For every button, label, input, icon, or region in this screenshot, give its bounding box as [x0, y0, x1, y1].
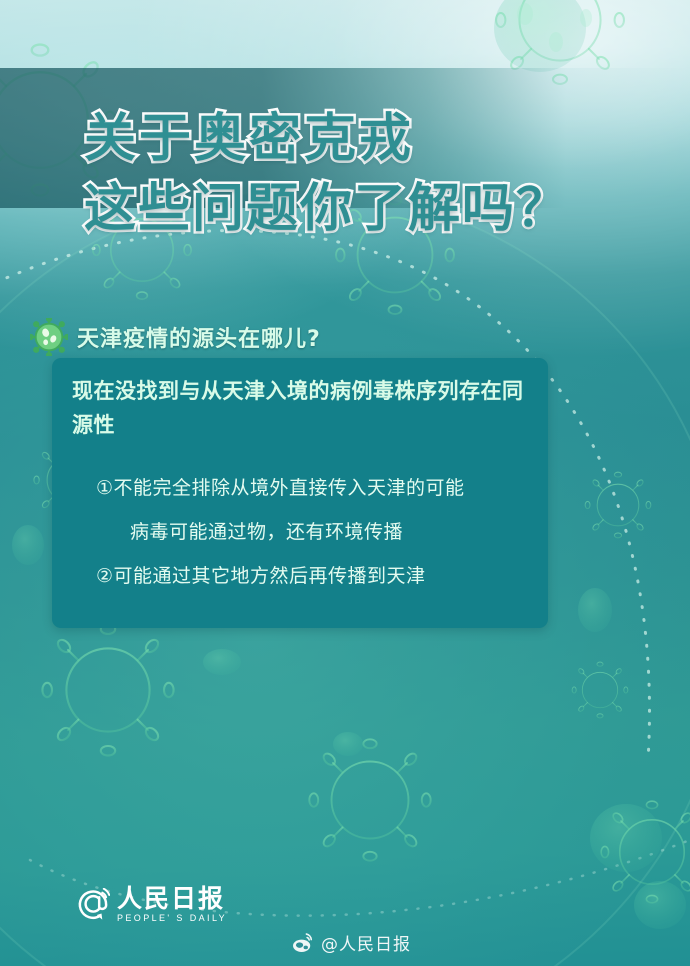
- answer-list: ①不能完全排除从境外直接传入天津的可能 病毒可能通过物，还有环境传播 ②可能通过…: [96, 466, 536, 598]
- list-item: 病毒可能通过物，还有环境传播: [96, 510, 536, 554]
- peoples-daily-logo: 人民日报 PEOPLE' S DAILY: [76, 886, 227, 923]
- title-line-2: 这些问题你了解吗？: [84, 175, 684, 243]
- page-title: 关于奥密克戎 这些问题你了解吗？: [84, 105, 684, 243]
- virus-icon: [30, 318, 68, 356]
- weibo-handle: @人民日报: [321, 930, 411, 955]
- answer-lead: 现在没找到与从天津入境的病例毒株序列存在同源性: [72, 374, 532, 442]
- list-item: ①不能完全排除从境外直接传入天津的可能: [96, 466, 536, 510]
- answer-card: 现在没找到与从天津入境的病例毒株序列存在同源性 ①不能完全排除从境外直接传入天津…: [52, 358, 548, 628]
- list-item: ②可能通过其它地方然后再传播到天津: [96, 554, 536, 598]
- poster-canvas: 关于奥密克戎 这些问题你了解吗？ 天津疫情的源头在哪儿?: [0, 0, 690, 966]
- title-line-1: 关于奥密克戎: [84, 109, 414, 169]
- at-sign-icon: [76, 888, 110, 922]
- question-text: 天津疫情的源头在哪儿?: [77, 321, 321, 353]
- weibo-watermark: @人民日报: [292, 930, 411, 955]
- logo-name-cn: 人民日报: [117, 886, 227, 911]
- question-heading: 天津疫情的源头在哪儿?: [30, 318, 321, 356]
- logo-name-en: PEOPLE' S DAILY: [117, 914, 227, 923]
- weibo-icon: [292, 932, 314, 954]
- logo-text: 人民日报 PEOPLE' S DAILY: [117, 886, 227, 923]
